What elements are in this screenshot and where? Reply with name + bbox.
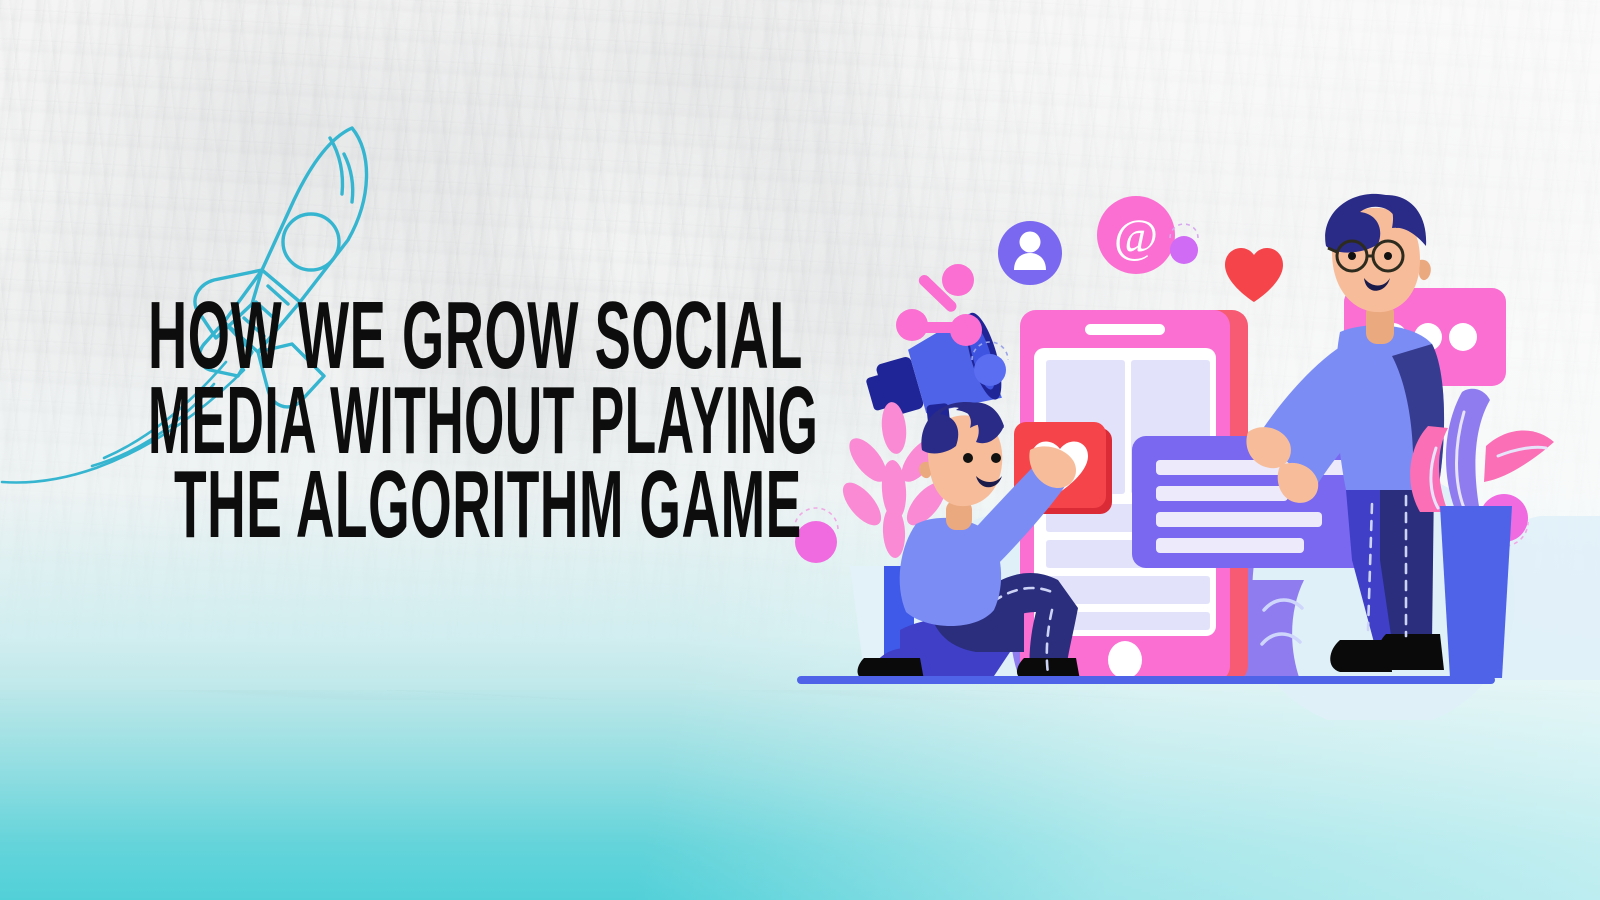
floor-line — [797, 676, 1495, 684]
page-title: HOW WE GROW SOCIAL MEDIA WITHOUT PLAYING… — [148, 296, 808, 546]
headline-line-1: HOW WE GROW SOCIAL — [148, 296, 521, 377]
at-symbol-glyph: @ — [1114, 210, 1158, 263]
social-media-engagement-illustration: @ — [780, 160, 1600, 720]
banner-canvas: HOW WE GROW SOCIAL MEDIA WITHOUT PLAYING… — [0, 0, 1600, 900]
headline-line-3: THE ALGORITHM GAME — [174, 465, 527, 546]
user-avatar-icon — [998, 221, 1062, 285]
illustration-svg: @ — [780, 160, 1600, 720]
phone-home-button — [1108, 641, 1142, 679]
at-mention-icon: @ — [1097, 196, 1175, 274]
heart-floating-icon — [1225, 248, 1283, 302]
phone-speaker — [1085, 324, 1165, 335]
headline-line-2: MEDIA WITHOUT PLAYING — [148, 381, 503, 462]
